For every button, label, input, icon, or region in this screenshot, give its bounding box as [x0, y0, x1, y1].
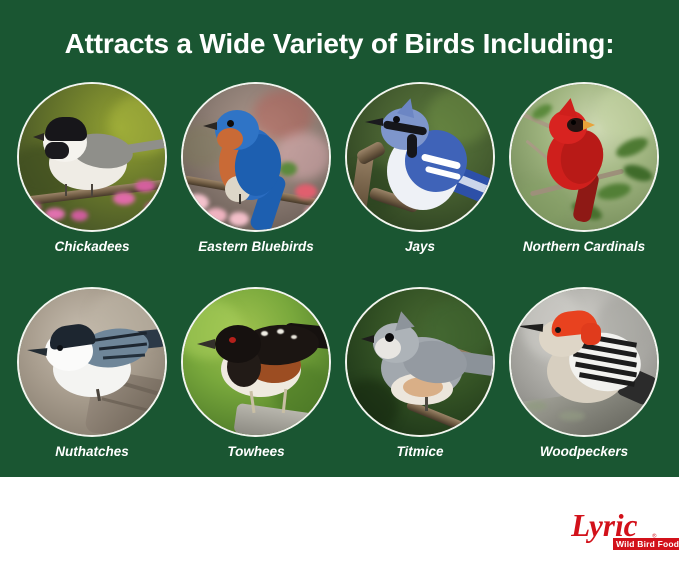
spotted-towhee-photo-frame [183, 289, 329, 435]
bird-label: Eastern Bluebirds [183, 239, 329, 254]
bird-cell-towhees: Towhees [183, 289, 329, 459]
white-breasted-nuthatch-photo-frame [19, 289, 165, 435]
tufted-titmouse-photo-frame [347, 289, 493, 435]
northern-cardinal-photo [511, 84, 657, 230]
spotted-towhee-photo [183, 289, 329, 435]
bird-cell-eastern-bluebirds: Eastern Bluebirds [183, 84, 329, 254]
northern-cardinal-photo-frame [511, 84, 657, 230]
bird-label: Woodpeckers [511, 444, 657, 459]
red-bellied-woodpecker-photo-frame [511, 289, 657, 435]
bird-variety-poster: Attracts a Wide Variety of Birds Includi… [0, 0, 679, 566]
bird-row: Nuthatches [0, 289, 679, 494]
bird-label: Titmice [347, 444, 493, 459]
page-title: Attracts a Wide Variety of Birds Includi… [0, 28, 679, 60]
chickadee-photo [19, 84, 165, 230]
bird-cell-titmice: Titmice [347, 289, 493, 459]
bird-cell-nuthatches: Nuthatches [19, 289, 165, 459]
bird-label: Jays [347, 239, 493, 254]
bird-grid: Chickadees [0, 84, 679, 494]
blue-jay-photo-frame [347, 84, 493, 230]
red-bellied-woodpecker-photo [511, 289, 657, 435]
blue-jay-photo [347, 84, 493, 230]
bird-label: Northern Cardinals [511, 239, 657, 254]
eastern-bluebird-photo-frame [183, 84, 329, 230]
tufted-titmouse-photo [347, 289, 493, 435]
brand-tagline: Wild Bird Food [613, 538, 679, 550]
lyric-logo: Lyric ® Wild Bird Food [569, 506, 673, 554]
bird-row: Chickadees [0, 84, 679, 289]
bird-cell-jays: Jays [347, 84, 493, 254]
bird-cell-northern-cardinals: Northern Cardinals [511, 84, 657, 254]
bird-cell-woodpeckers: Woodpeckers [511, 289, 657, 459]
bird-cell-chickadees: Chickadees [19, 84, 165, 254]
chickadee-photo-frame [19, 84, 165, 230]
bird-label: Nuthatches [19, 444, 165, 459]
white-breasted-nuthatch-photo [19, 289, 165, 435]
eastern-bluebird-photo [183, 84, 329, 230]
bird-label: Chickadees [19, 239, 165, 254]
bird-label: Towhees [183, 444, 329, 459]
